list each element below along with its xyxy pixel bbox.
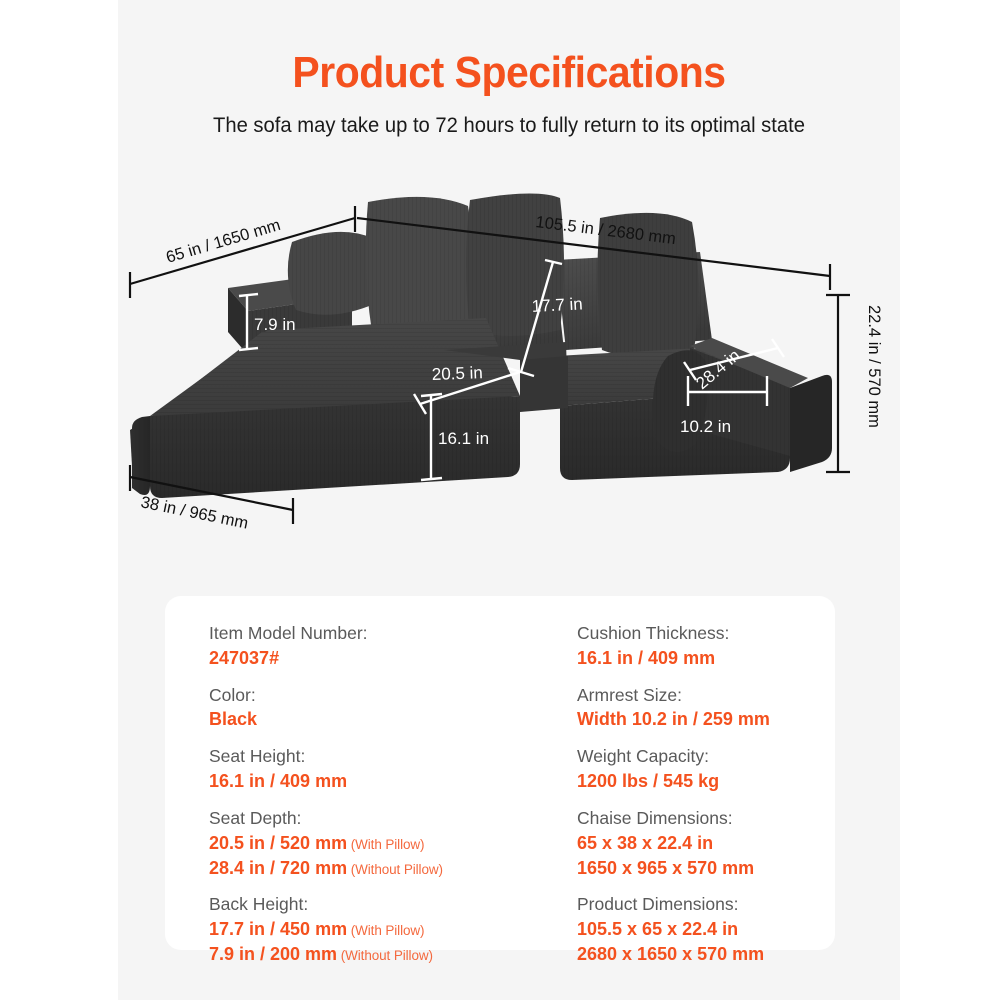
spec-value: 20.5 in / 520 mm (With Pillow): [209, 831, 547, 856]
spec-value-text: 20.5 in / 520 mm: [209, 833, 347, 853]
callout-chaise-width: 38 in / 965 mm: [139, 493, 250, 532]
spec-value-text: 1200 lbs / 545 kg: [577, 771, 719, 791]
spec-value-text: Black: [209, 709, 257, 729]
spec-value-text: 1650 x 965 x 570 mm: [577, 858, 754, 878]
spec-row: Armrest Size:Width 10.2 in / 259 mm: [577, 684, 835, 733]
spec-value-text: 16.1 in / 409 mm: [577, 648, 715, 668]
specifications-card: Item Model Number:247037#Color:BlackSeat…: [165, 596, 835, 950]
spec-label: Item Model Number:: [209, 622, 547, 646]
spec-label: Back Height:: [209, 893, 547, 917]
spec-column-right: Cushion Thickness:16.1 in / 409 mmArmres…: [547, 622, 835, 950]
spec-row: Color:Black: [209, 684, 547, 733]
spec-value-note: (With Pillow): [347, 837, 424, 852]
callout-seat-height: 16.1 in: [438, 429, 489, 448]
spec-row: Chaise Dimensions:65 x 38 x 22.4 in1650 …: [577, 807, 835, 880]
spec-value: 247037#: [209, 646, 547, 671]
spec-value-text: 28.4 in / 720 mm: [209, 858, 347, 878]
callout-armrest-height: 7.9 in: [254, 315, 296, 334]
spec-label: Product Dimensions:: [577, 893, 835, 917]
spec-value: 28.4 in / 720 mm (Without Pillow): [209, 856, 547, 881]
spec-label: Seat Depth:: [209, 807, 547, 831]
page-subtitle: The sofa may take up to 72 hours to full…: [141, 113, 876, 138]
spec-value: 1650 x 965 x 570 mm: [577, 856, 835, 881]
spec-value: Width 10.2 in / 259 mm: [577, 707, 835, 732]
page-title: Product Specifications: [145, 48, 872, 98]
spec-value-text: 2680 x 1650 x 570 mm: [577, 944, 764, 964]
spec-value: 7.9 in / 200 mm (Without Pillow): [209, 942, 547, 967]
spec-row: Item Model Number:247037#: [209, 622, 547, 671]
spec-label: Color:: [209, 684, 547, 708]
spec-label: Cushion Thickness:: [577, 622, 835, 646]
spec-value: 17.7 in / 450 mm (With Pillow): [209, 917, 547, 942]
spec-value-text: Width 10.2 in / 259 mm: [577, 709, 770, 729]
spec-value: 105.5 x 65 x 22.4 in: [577, 917, 835, 942]
spec-value-text: 105.5 x 65 x 22.4 in: [577, 919, 738, 939]
spec-value-note: (Without Pillow): [337, 948, 433, 963]
spec-value: 65 x 38 x 22.4 in: [577, 831, 835, 856]
callout-back-height: 17.7 in: [531, 294, 583, 316]
spec-value: 16.1 in / 409 mm: [577, 646, 835, 671]
spec-value-text: 7.9 in / 200 mm: [209, 944, 337, 964]
sofa-dimension-diagram: 65 in / 1650 mm 105.5 in / 2680 mm 22.4 …: [0, 180, 1000, 570]
spec-row: Back Height:17.7 in / 450 mm (With Pillo…: [209, 893, 547, 966]
spec-value-text: 16.1 in / 409 mm: [209, 771, 347, 791]
spec-row: Seat Depth:20.5 in / 520 mm (With Pillow…: [209, 807, 547, 880]
spec-row: Seat Height:16.1 in / 409 mm: [209, 745, 547, 794]
spec-label: Armrest Size:: [577, 684, 835, 708]
spec-column-left: Item Model Number:247037#Color:BlackSeat…: [165, 622, 547, 950]
spec-value: 16.1 in / 409 mm: [209, 769, 547, 794]
spec-value: 2680 x 1650 x 570 mm: [577, 942, 835, 967]
spec-row: Cushion Thickness:16.1 in / 409 mm: [577, 622, 835, 671]
spec-value: Black: [209, 707, 547, 732]
product-spec-page: Product Specifications The sofa may take…: [0, 0, 1000, 1000]
spec-value-note: (Without Pillow): [347, 862, 443, 877]
spec-value-text: 17.7 in / 450 mm: [209, 919, 347, 939]
spec-label: Seat Height:: [209, 745, 547, 769]
callout-armrest-width: 10.2 in: [680, 417, 731, 436]
spec-value-note: (With Pillow): [347, 923, 424, 938]
callout-overall-height: 22.4 in / 570 mm: [865, 305, 883, 428]
callout-seat-depth: 20.5 in: [431, 363, 483, 384]
spec-row: Weight Capacity:1200 lbs / 545 kg: [577, 745, 835, 794]
callout-chaise-depth: 65 in / 1650 mm: [164, 216, 283, 267]
spec-value-text: 65 x 38 x 22.4 in: [577, 833, 713, 853]
spec-value: 1200 lbs / 545 kg: [577, 769, 835, 794]
spec-label: Chaise Dimensions:: [577, 807, 835, 831]
spec-row: Product Dimensions:105.5 x 65 x 22.4 in2…: [577, 893, 835, 966]
spec-value-text: 247037#: [209, 648, 279, 668]
spec-label: Weight Capacity:: [577, 745, 835, 769]
